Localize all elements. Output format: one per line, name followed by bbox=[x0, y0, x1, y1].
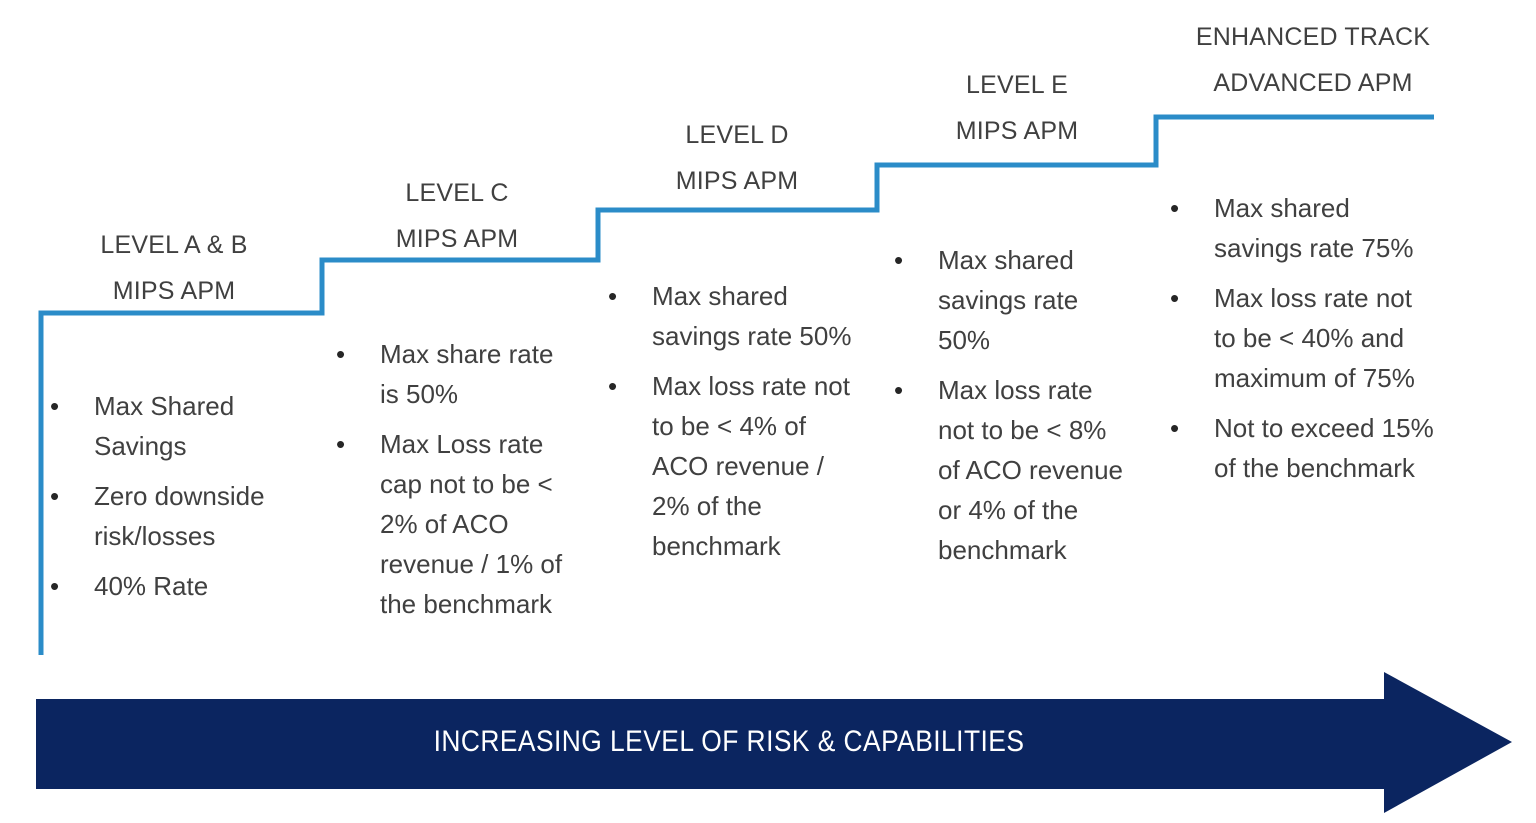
level-heading-level-c: LEVEL C MIPS APM bbox=[312, 170, 602, 262]
level-heading-level-ab: LEVEL A & B MIPS APM bbox=[24, 222, 324, 314]
level-column-level-e: LEVEL E MIPS APM • Max shared savings ra… bbox=[872, 62, 1162, 580]
list-item: • Max shared savings rate 50% bbox=[894, 240, 1124, 360]
list-item: • Zero downside risk/losses bbox=[50, 476, 300, 556]
list-item: • Max shared savings rate 50% bbox=[608, 276, 856, 356]
bullet-dot-icon: • bbox=[50, 386, 88, 426]
level-column-level-c: LEVEL C MIPS APM • Max share rate is 50%… bbox=[312, 170, 602, 634]
list-item: • Not to exceed 15% of the benchmark bbox=[1170, 408, 1440, 488]
level-heading-line2: MIPS APM bbox=[592, 158, 882, 204]
level-column-level-ab: LEVEL A & B MIPS APM • Max Shared Saving… bbox=[24, 222, 324, 616]
level-heading-line1: LEVEL D bbox=[592, 112, 882, 158]
level-heading-line2: ADVANCED APM bbox=[1148, 60, 1478, 106]
level-heading-line2: MIPS APM bbox=[24, 268, 324, 314]
level-heading-level-enhanced: ENHANCED TRACK ADVANCED APM bbox=[1148, 14, 1478, 106]
list-item: • 40% Rate bbox=[50, 566, 300, 606]
level-heading-line1: LEVEL E bbox=[872, 62, 1162, 108]
list-item: • Max Shared Savings bbox=[50, 386, 300, 466]
level-column-level-d: LEVEL D MIPS APM • Max shared savings ra… bbox=[592, 112, 882, 576]
bullet-dot-icon: • bbox=[1170, 408, 1208, 448]
bullet-dot-icon: • bbox=[1170, 188, 1208, 228]
level-heading-line2: MIPS APM bbox=[872, 108, 1162, 154]
level-column-level-enhanced: ENHANCED TRACK ADVANCED APM • Max shared… bbox=[1148, 14, 1478, 498]
bullet-dot-icon: • bbox=[894, 370, 932, 410]
bullet-dot-icon: • bbox=[894, 240, 932, 280]
level-heading-level-e: LEVEL E MIPS APM bbox=[872, 62, 1162, 154]
bullet-dot-icon: • bbox=[1170, 278, 1208, 318]
list-item: • Max share rate is 50% bbox=[336, 334, 576, 414]
list-item: • Max shared savings rate 75% bbox=[1170, 188, 1440, 268]
level-bullet-list-level-d: • Max shared savings rate 50% • Max loss… bbox=[608, 276, 856, 566]
level-bullet-list-level-e: • Max shared savings rate 50% • Max loss… bbox=[894, 240, 1124, 570]
bullet-dot-icon: • bbox=[336, 334, 374, 374]
level-bullet-list-level-enhanced: • Max shared savings rate 75% • Max loss… bbox=[1170, 188, 1440, 488]
bullet-text: Max loss rate not to be < 40% and maximu… bbox=[1170, 278, 1440, 398]
list-item: • Max loss rate not to be < 4% of ACO re… bbox=[608, 366, 856, 566]
bullet-dot-icon: • bbox=[50, 476, 88, 516]
bullet-text: Not to exceed 15% of the benchmark bbox=[1170, 408, 1440, 488]
increasing-risk-arrow-banner: INCREASING LEVEL OF RISK & CAPABILITIES bbox=[34, 666, 1518, 818]
bullet-dot-icon: • bbox=[608, 366, 646, 406]
level-heading-level-d: LEVEL D MIPS APM bbox=[592, 112, 882, 204]
arrow-banner-label: INCREASING LEVEL OF RISK & CAPABILITIES bbox=[117, 666, 1340, 818]
list-item: • Max Loss rate cap not to be < 2% of AC… bbox=[336, 424, 576, 624]
level-bullet-list-level-ab: • Max Shared Savings • Zero downside ris… bbox=[50, 386, 300, 606]
bullet-dot-icon: • bbox=[608, 276, 646, 316]
risk-capability-staircase-diagram: LEVEL A & B MIPS APM • Max Shared Saving… bbox=[0, 0, 1536, 823]
bullet-dot-icon: • bbox=[336, 424, 374, 464]
level-heading-line1: LEVEL C bbox=[312, 170, 602, 216]
level-heading-line2: MIPS APM bbox=[312, 216, 602, 262]
bullet-dot-icon: • bbox=[50, 566, 88, 606]
list-item: • Max loss rate not to be < 40% and maxi… bbox=[1170, 278, 1440, 398]
bullet-text: Max shared savings rate 75% bbox=[1170, 188, 1440, 268]
level-bullet-list-level-c: • Max share rate is 50% • Max Loss rate … bbox=[336, 334, 576, 624]
list-item: • Max loss rate not to be < 8% of ACO re… bbox=[894, 370, 1124, 570]
level-heading-line1: LEVEL A & B bbox=[24, 222, 324, 268]
level-heading-line1: ENHANCED TRACK bbox=[1148, 14, 1478, 60]
